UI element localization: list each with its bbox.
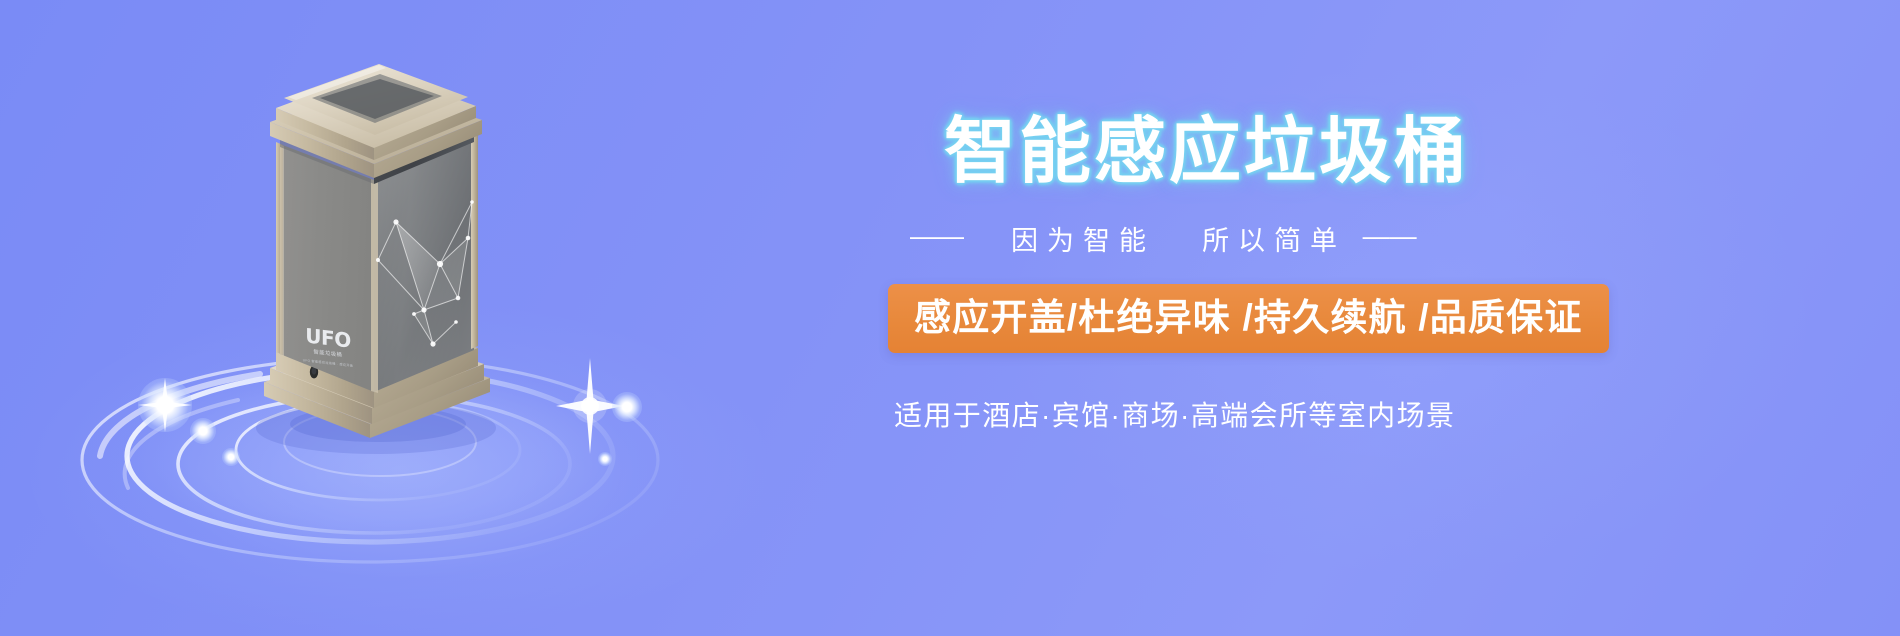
subtitle-part-one: 因为智能 xyxy=(1011,225,1155,255)
promo-banner: UFO 智能垃圾桶 UFO 智能感应垃圾桶 · 感应开盖 智能感应垃圾桶 —— … xyxy=(0,0,1900,636)
subtitle: —— 因为智能 所以简单 —— xyxy=(888,219,1848,259)
tagline: 适用于酒店·宾馆·商场·高端会所等室内场景 xyxy=(888,398,1848,434)
copy-block: 智能感应垃圾桶 —— 因为智能 所以简单 —— 感应开盖/杜绝异味 /持久续航 … xyxy=(888,112,1848,435)
feature-badge: 感应开盖/杜绝异味 /持久续航 /品质保证 xyxy=(888,284,1609,354)
sparkle-left-large xyxy=(138,378,192,432)
product-image xyxy=(228,52,518,452)
sparkle-right-tiny xyxy=(598,452,612,466)
subtitle-dash-left: —— xyxy=(910,219,964,254)
sparkle-right-small xyxy=(612,392,642,422)
subtitle-part-two: 所以简单 xyxy=(1202,225,1346,255)
sparkle-right-star xyxy=(556,358,624,454)
page-title: 智能感应垃圾桶 xyxy=(888,112,1848,193)
sparkle-left-small xyxy=(190,418,216,444)
subtitle-dash-right: —— xyxy=(1363,219,1417,254)
